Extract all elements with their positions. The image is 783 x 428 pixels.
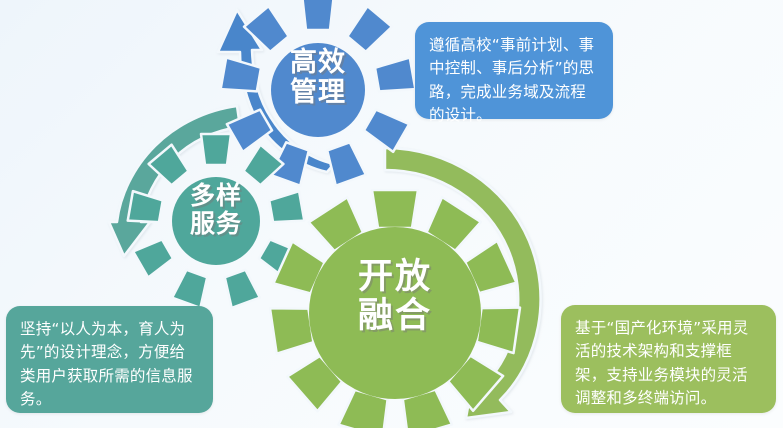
callout-open-integration: 基于“国产化环境”采用灵活的技术架构和支撑框架，支持业务模块的灵活调整和多终端访…	[561, 305, 776, 413]
callout-diverse-service: 坚持“以人为本，育人为先”的设计理念，方便给类用户获取所需的信息服务。	[6, 306, 213, 413]
diagram-canvas: 高效 管理 多样 服务 开放 融合 遵循高校“事前计划、事中控制、事后分析”的思…	[0, 0, 783, 428]
callout-efficient-management: 遵循高校“事前计划、事中控制、事后分析”的思路，完成业务域及流程的设计。	[415, 22, 613, 119]
gear-open-integration	[270, 190, 520, 428]
